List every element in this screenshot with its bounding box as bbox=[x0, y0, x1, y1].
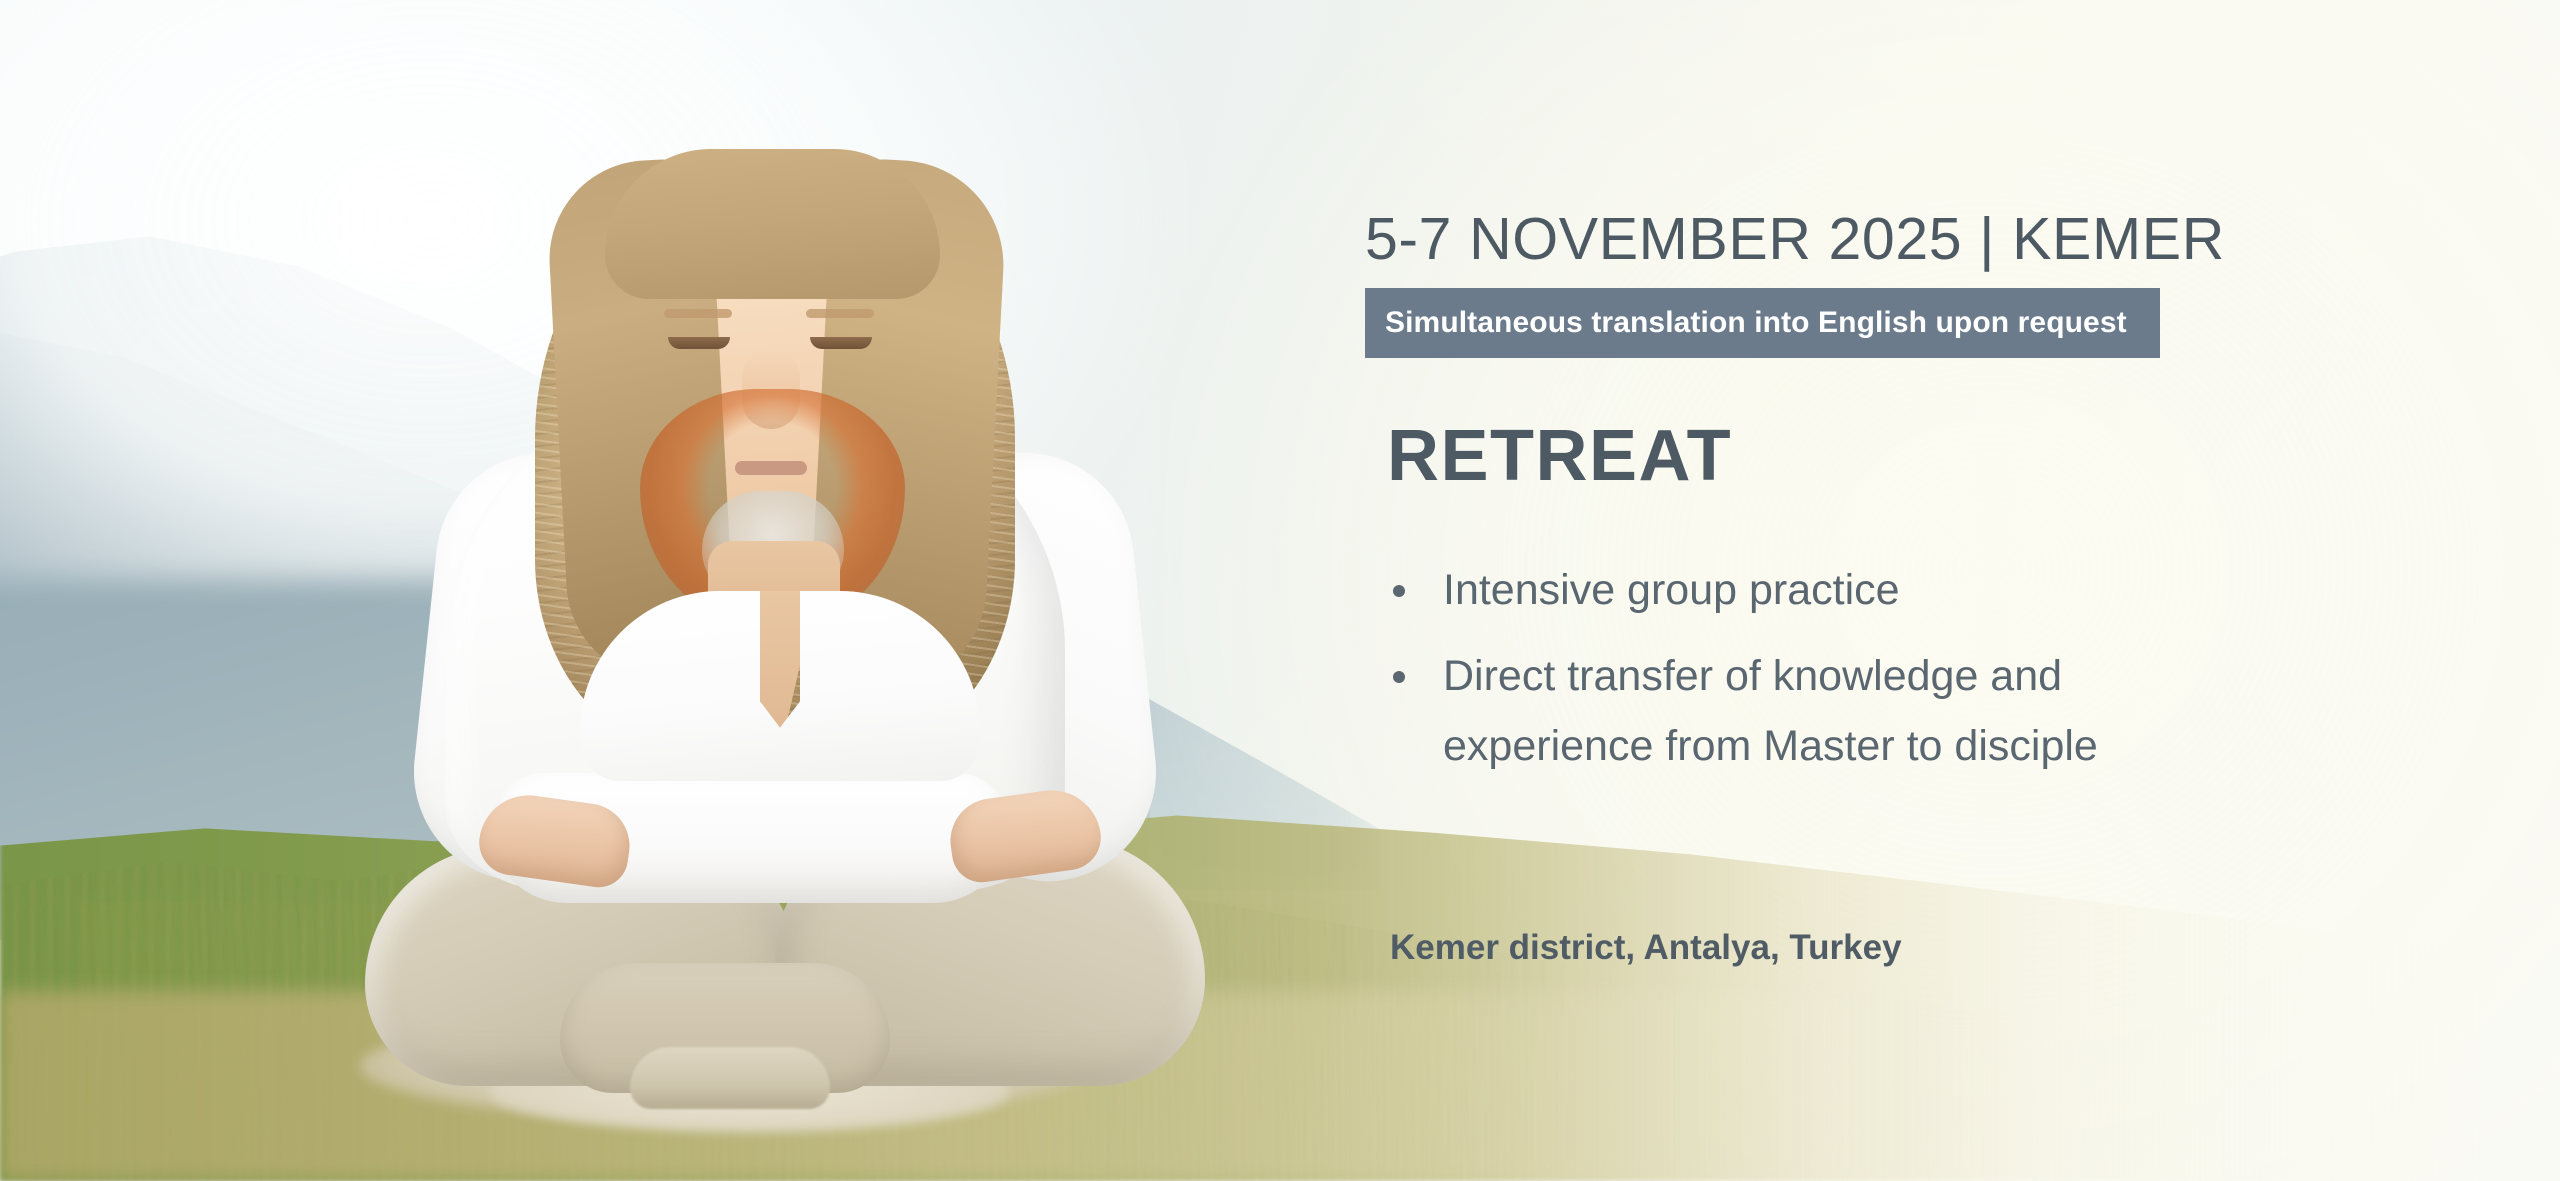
closed-eye-left bbox=[668, 337, 730, 349]
event-date-location-line: 5-7 NOVEMBER 2025 | KEMER bbox=[1365, 205, 2225, 273]
retreat-promo-banner: 5-7 NOVEMBER 2025 | KEMER Simultaneous t… bbox=[0, 0, 2560, 1181]
list-item: Direct transfer of knowledge and experie… bbox=[1383, 641, 2173, 781]
eyebrow-left bbox=[664, 309, 732, 318]
venue-location-text: Kemer district, Antalya, Turkey bbox=[1390, 928, 1902, 968]
meditating-man-figure bbox=[330, 71, 1230, 1181]
closed-eye-right bbox=[810, 337, 872, 349]
feature-bullet-list: Intensive group practice Direct transfer… bbox=[1383, 555, 2173, 781]
banner-text-panel: 5-7 NOVEMBER 2025 | KEMER Simultaneous t… bbox=[1365, 0, 2365, 1181]
translation-badge: Simultaneous translation into English up… bbox=[1365, 288, 2160, 358]
page-title: RETREAT bbox=[1387, 415, 1732, 497]
bare-foot bbox=[630, 1047, 830, 1109]
hair-top bbox=[605, 149, 940, 299]
list-item: Intensive group practice bbox=[1383, 555, 2173, 625]
eyebrow-right bbox=[806, 309, 874, 318]
translation-badge-label: Simultaneous translation into English up… bbox=[1385, 306, 2127, 340]
mouth bbox=[735, 461, 807, 475]
